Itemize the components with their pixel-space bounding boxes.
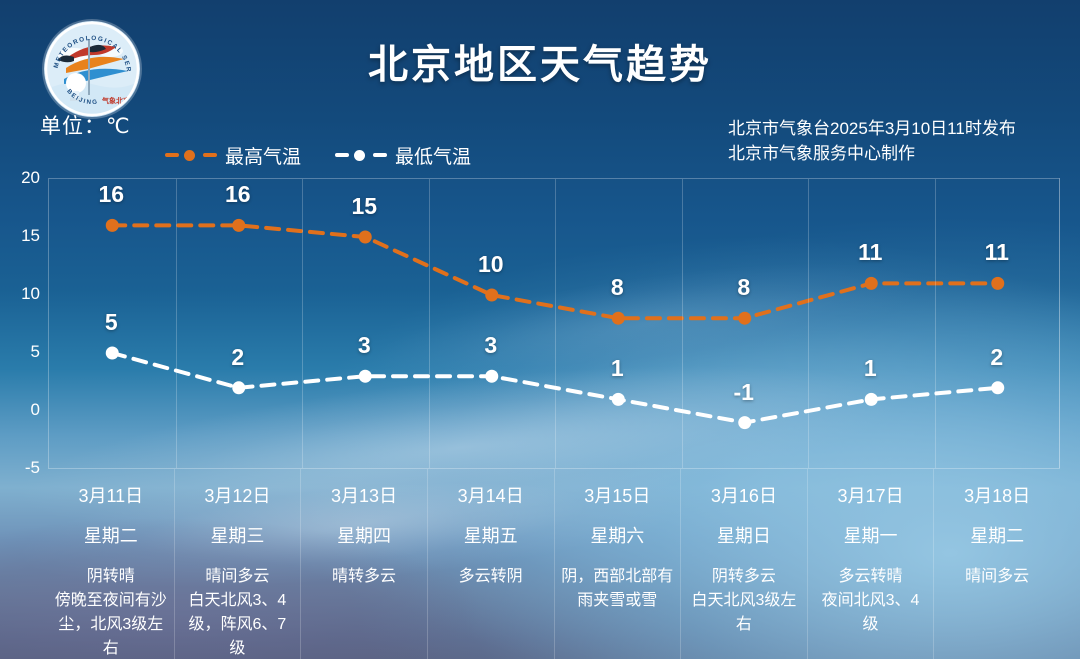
legend-item-high: 最高气温 xyxy=(165,142,301,169)
publisher-line-2: 北京市气象服务中心制作 xyxy=(728,141,1058,166)
forecast-description: 多云转阴 xyxy=(434,565,548,589)
forecast-date: 3月17日 xyxy=(814,483,928,509)
forecast-day-column: 3月17日星期一多云转晴夜间北风3、4级 xyxy=(808,469,935,659)
forecast-date: 3月14日 xyxy=(434,483,548,509)
data-point-marker xyxy=(865,393,878,406)
data-value-label: -1 xyxy=(734,379,754,406)
grid-line-vertical xyxy=(302,179,303,468)
data-value-label: 2 xyxy=(990,344,1003,371)
dashed-line-marker-icon xyxy=(165,149,217,161)
plot-right-edge xyxy=(1059,178,1060,468)
legend-label-high: 最高气温 xyxy=(225,142,301,169)
data-point-marker xyxy=(485,289,498,302)
grid-line-vertical xyxy=(682,179,683,468)
forecast-description-line: 白天北风3、4级，阵风6、7级 xyxy=(181,589,295,659)
forecast-date: 3月18日 xyxy=(940,483,1054,509)
forecast-day-column: 3月15日星期六阴，西部北部有雨夹雪或雪 xyxy=(555,469,682,659)
data-value-label: 10 xyxy=(478,251,504,278)
data-point-marker xyxy=(106,347,119,360)
forecast-description-line: 晴间多云 xyxy=(940,565,1054,589)
forecast-weekday: 星期五 xyxy=(434,523,548,549)
data-value-label: 16 xyxy=(225,181,251,208)
forecast-description: 阴，西部北部有雨夹雪或雪 xyxy=(561,565,675,613)
legend-label-low: 最低气温 xyxy=(395,142,471,169)
data-point-marker xyxy=(232,219,245,232)
data-value-label: 11 xyxy=(858,239,882,266)
forecast-description: 晴转多云 xyxy=(307,565,421,589)
data-value-label: 3 xyxy=(484,332,497,359)
forecast-day-column: 3月11日星期二阴转晴傍晚至夜间有沙尘，北风3级左右 xyxy=(48,469,175,659)
forecast-description: 晴间多云白天北风3、4级，阵风6、7级 xyxy=(181,565,295,659)
y-axis-tick: -5 xyxy=(25,458,40,478)
data-point-marker xyxy=(106,219,119,232)
data-point-marker xyxy=(232,381,245,394)
data-point-marker xyxy=(612,312,625,325)
data-point-marker xyxy=(865,277,878,290)
forecast-description: 阴转多云白天北风3级左右 xyxy=(687,565,801,637)
data-value-label: 5 xyxy=(105,309,118,336)
y-axis-tick: 0 xyxy=(31,400,40,420)
grid-line-vertical xyxy=(808,179,809,468)
forecast-description-line: 白天北风3级左右 xyxy=(687,589,801,637)
y-axis-tick: 10 xyxy=(21,284,40,304)
chart-plot-area xyxy=(48,178,1060,468)
forecast-weekday: 星期一 xyxy=(814,523,928,549)
y-axis-tick: 5 xyxy=(31,342,40,362)
publisher-line-1: 北京市气象台2025年3月10日11时发布 xyxy=(728,116,1058,141)
forecast-description-line: 傍晚至夜间有沙尘，北风3级左右 xyxy=(54,589,168,659)
forecast-day-column: 3月13日星期四晴转多云 xyxy=(301,469,428,659)
publisher-info: 北京市气象台2025年3月10日11时发布 北京市气象服务中心制作 xyxy=(728,116,1058,166)
forecast-description-line: 多云转晴 xyxy=(814,565,928,589)
data-point-marker xyxy=(738,416,751,429)
y-axis-tick: 15 xyxy=(21,226,40,246)
forecast-description: 多云转晴夜间北风3、4级 xyxy=(814,565,928,637)
data-value-label: 8 xyxy=(611,274,624,301)
forecast-description-line: 晴转多云 xyxy=(307,565,421,589)
forecast-description-line: 晴间多云 xyxy=(181,565,295,589)
forecast-date: 3月11日 xyxy=(54,483,168,509)
data-value-label: 8 xyxy=(737,274,750,301)
data-value-label: 1 xyxy=(611,355,624,382)
page-title: 北京地区天气趋势 xyxy=(0,32,1080,90)
forecast-description: 阴转晴傍晚至夜间有沙尘，北风3级左右 xyxy=(54,565,168,659)
forecast-day-column: 3月12日星期三晴间多云白天北风3、4级，阵风6、7级 xyxy=(175,469,302,659)
grid-line-vertical xyxy=(176,179,177,468)
data-value-label: 15 xyxy=(351,193,377,220)
forecast-day-table: 3月11日星期二阴转晴傍晚至夜间有沙尘，北风3级左右3月12日星期三晴间多云白天… xyxy=(48,468,1060,659)
data-point-marker xyxy=(485,370,498,383)
forecast-day-column: 3月18日星期二晴间多云 xyxy=(934,469,1060,659)
forecast-description-line: 阴转晴 xyxy=(54,565,168,589)
forecast-day-column: 3月16日星期日阴转多云白天北风3级左右 xyxy=(681,469,808,659)
grid-line-vertical xyxy=(935,179,936,468)
forecast-description-line: 夜间北风3、4级 xyxy=(814,589,928,637)
data-point-marker xyxy=(359,370,372,383)
data-point-marker xyxy=(738,312,751,325)
forecast-weekday: 星期四 xyxy=(307,523,421,549)
forecast-weekday: 星期三 xyxy=(181,523,295,549)
forecast-weekday: 星期二 xyxy=(54,523,168,549)
forecast-day-column: 3月14日星期五多云转阴 xyxy=(428,469,555,659)
y-axis-tick: 20 xyxy=(21,168,40,188)
forecast-weekday: 星期二 xyxy=(940,523,1054,549)
data-value-label: 11 xyxy=(985,239,1009,266)
dashed-line-marker-icon xyxy=(335,149,387,161)
forecast-weekday: 星期六 xyxy=(561,523,675,549)
grid-line-vertical xyxy=(429,179,430,468)
forecast-description: 晴间多云 xyxy=(940,565,1054,589)
weather-trend-infographic: METEOROLOGICAL SERVICE BEIJING 气象北京 北京地区… xyxy=(0,0,1080,659)
grid-line-vertical xyxy=(555,179,556,468)
data-point-marker xyxy=(991,381,1004,394)
forecast-weekday: 星期日 xyxy=(687,523,801,549)
forecast-date: 3月15日 xyxy=(561,483,675,509)
forecast-description-line: 阴，西部北部有雨夹雪或雪 xyxy=(561,565,675,613)
legend-item-low: 最低气温 xyxy=(335,142,471,169)
unit-label: 单位：℃ xyxy=(40,110,131,140)
y-axis: 20151050-5 xyxy=(0,0,48,659)
data-value-label: 2 xyxy=(231,344,244,371)
forecast-description-line: 多云转阴 xyxy=(434,565,548,589)
data-point-marker xyxy=(991,277,1004,290)
forecast-date: 3月13日 xyxy=(307,483,421,509)
data-value-label: 3 xyxy=(358,332,371,359)
data-value-label: 16 xyxy=(98,181,124,208)
forecast-date: 3月12日 xyxy=(181,483,295,509)
chart-legend: 最高气温 最低气温 xyxy=(165,143,471,167)
data-point-marker xyxy=(359,231,372,244)
forecast-date: 3月16日 xyxy=(687,483,801,509)
data-point-marker xyxy=(612,393,625,406)
data-value-label: 1 xyxy=(864,355,877,382)
forecast-description-line: 阴转多云 xyxy=(687,565,801,589)
